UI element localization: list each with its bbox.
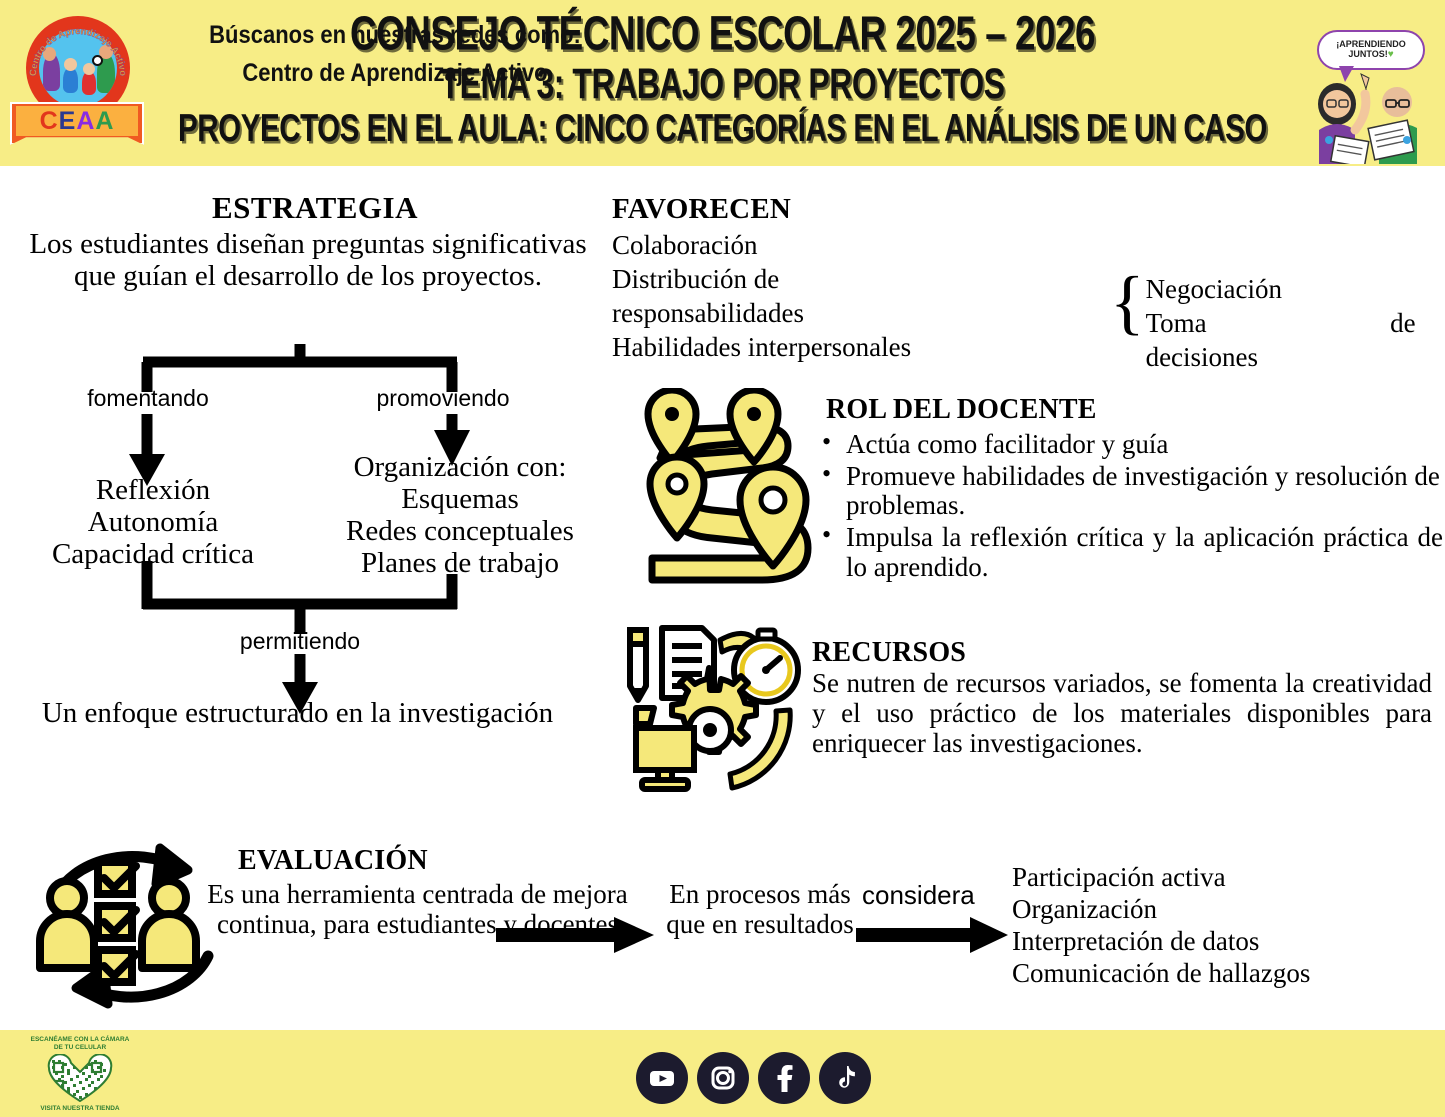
brace-item-decisiones: decisiones [1146,340,1430,374]
flow-label-promoviendo: promoviendo [348,385,538,412]
rol-bullet-2: Promueve habilidades de investigación y … [818,462,1443,521]
recursos-title: RECURSOS [812,637,966,669]
logo-letter-e: E [59,107,77,136]
favorecen-title: FAVORECEN [612,193,791,226]
qr-heart-icon[interactable] [46,1054,114,1102]
social-icons-group[interactable] [636,1052,871,1104]
heart-icon: ♥ [1388,49,1394,60]
logo-letter-a1: A [76,107,95,136]
qr-code-block[interactable]: ESCANÉAME CON LA CÁMARA DE TU CELULAR [26,1036,134,1114]
rol-bullet-1: Actúa como facilitador y guía [818,430,1443,460]
speech-bubble: ¡APRENDIENDO JUNTOS!♥ [1317,30,1425,70]
evaluacion-middle-label: considera [862,880,975,911]
speech-bubble-line1: ¡APRENDIENDO [1336,39,1406,49]
logo-letter-a2: A [95,107,114,136]
evaluacion-arrow-2 [856,915,1012,955]
favorecen-list: Colaboración Distribución de responsabil… [612,228,1092,364]
rol-docente-bullet-list: Actúa como facilitador y guía Promueve h… [818,430,1443,584]
estrategia-final-outcome: Un enfoque estructurado en la investigac… [40,698,555,730]
evaluacion-middle-text: En procesos más que en resultados [665,880,855,939]
evaluation-checklist-people-icon [32,840,232,1015]
header-title-line3: PROYECTOS EN EL AULA: CINCO CATEGORÍAS E… [167,109,1278,150]
svg-text:Centro de Aprendizaje Activo: Centro de Aprendizaje Activo [28,26,128,77]
favorecen-brace-group: { Negociación Toma de decisiones [1110,272,1430,374]
brace-item-toma: Toma [1146,306,1207,340]
evaluacion-results-list: Participación activa Organización Interp… [1012,862,1442,989]
ceaa-logo: Centro de Aprendizaje Activo C E A A [8,14,146,146]
footer-line2: Centro de Aprendizaje Activo [180,54,610,92]
curly-brace-icon: { [1110,274,1145,374]
estrategia-description: Los estudiantes diseñan preguntas signif… [22,228,594,293]
teachers-figures [1299,68,1439,164]
location-pins-path-icon [612,388,827,593]
evaluacion-title: EVALUACIÓN [238,845,428,877]
brace-item-negociacion: Negociación [1146,272,1430,306]
tiktok-icon[interactable] [819,1052,871,1104]
resources-tools-icon [614,618,814,796]
estrategia-title: ESTRATEGIA [130,190,500,226]
footer-text-block: Búscanos en nuestras redes como: Centro … [180,16,610,92]
flow-label-fomentando: fomentando [58,385,238,412]
logo-letter-c: C [40,107,59,136]
youtube-icon[interactable] [636,1052,688,1104]
header-illustration: ¡APRENDIENDO JUNTOS!♥ [1299,6,1439,161]
speech-bubble-line2: JUNTOS! [1348,49,1387,59]
facebook-icon[interactable] [758,1052,810,1104]
brace-item-de: de [1390,306,1415,340]
estrategia-branch-left: Reflexión Autonomía Capacidad crítica [8,475,298,571]
footer-line1: Búscanos en nuestras redes como: [180,16,610,54]
logo-banner-letters: C E A A [16,106,138,136]
rol-docente-title: ROL DEL DOCENTE [826,394,1097,426]
instagram-icon[interactable] [697,1052,749,1104]
flow-label-permitiendo: permitiendo [205,628,395,655]
favorecen-brace-items: Negociación Toma de decisiones [1146,272,1430,374]
rol-bullet-3: Impulsa la reflexión crítica y la aplica… [818,523,1443,582]
brace-item-toma-decisiones: Toma de [1146,306,1416,340]
qr-bottom-label: VISITA NUESTRA TIENDA [26,1105,134,1113]
qr-top-label: ESCANÉAME CON LA CÁMARA DE TU CELULAR [26,1036,134,1052]
evaluacion-arrow-1 [496,915,658,955]
estrategia-branch-right: Organización con: Esquemas Redes concept… [310,452,610,580]
recursos-text: Se nutren de recursos variados, se fomen… [812,668,1432,759]
